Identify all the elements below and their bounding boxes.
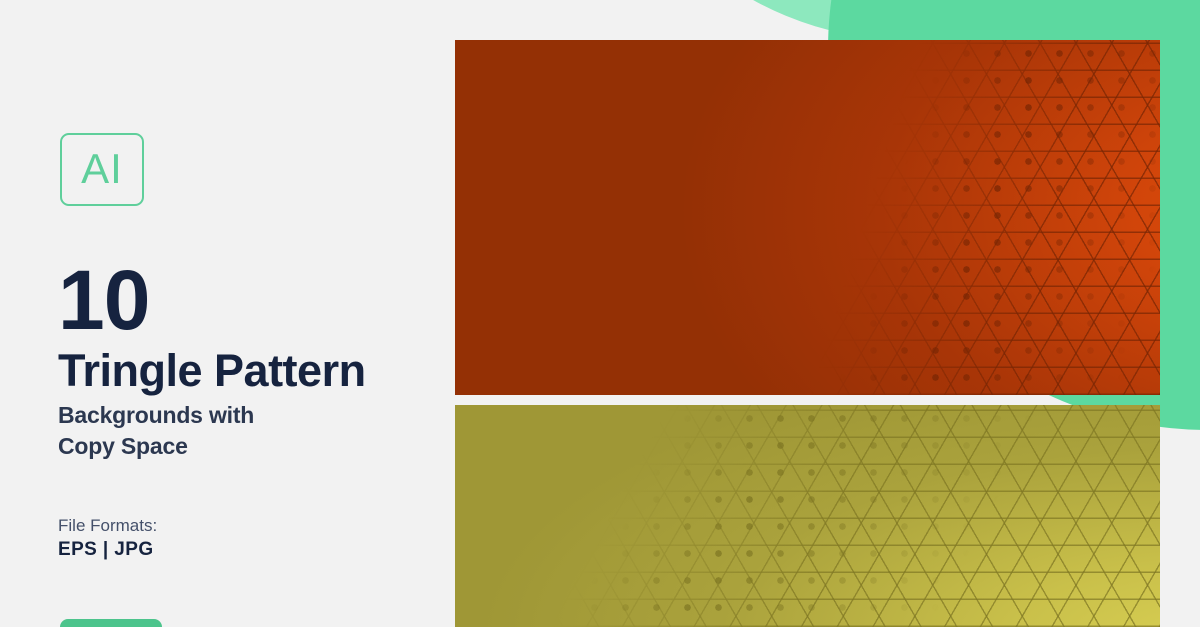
preview-olive-triangle-background[interactable] <box>455 405 1160 627</box>
cta-button[interactable] <box>60 619 162 627</box>
page-title: Tringle Pattern <box>58 348 366 393</box>
file-formats-value: EPS | JPG <box>58 540 154 559</box>
ai-file-format-badge-icon: AI <box>60 133 144 206</box>
triangle-dot-pattern <box>455 40 1160 395</box>
info-panel: AI 10 Tringle Pattern Backgrounds with C… <box>0 0 455 627</box>
file-formats-label: File Formats: <box>58 517 157 534</box>
page-subtitle: Backgrounds with Copy Space <box>58 400 254 462</box>
promo-canvas: AI 10 Tringle Pattern Backgrounds with C… <box>0 0 1200 627</box>
preview-orange-triangle-background[interactable] <box>455 40 1160 395</box>
triangle-dot-pattern <box>455 405 1160 627</box>
ai-badge-label: AI <box>62 135 142 204</box>
item-count: 10 <box>58 258 149 342</box>
